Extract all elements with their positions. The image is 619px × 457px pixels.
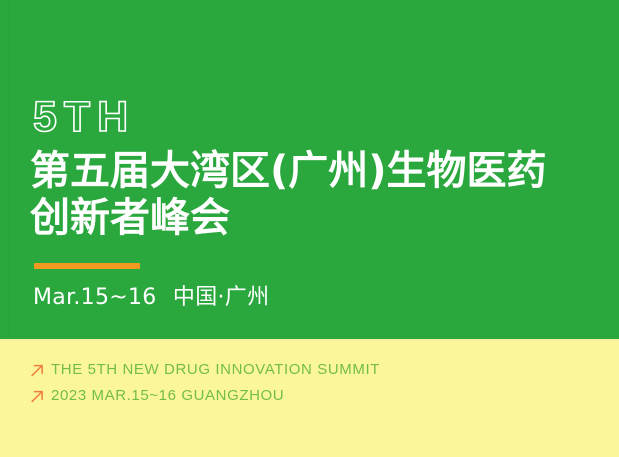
arrow-up-right-icon: [30, 389, 45, 404]
panel-left-seam: [9, 0, 10, 339]
footer-line-1: THE 5TH NEW DRUG INNOVATION SUMMIT: [51, 361, 380, 379]
poster-title: 第五届大湾区(广州)生物医药 创新者峰会: [30, 148, 610, 242]
footer-line-2: 2023 MAR.15~16 GUANGZHOU: [51, 387, 284, 405]
edition-mark: 5TH: [33, 96, 135, 139]
footer-row: THE 5TH NEW DRUG INNOVATION SUMMIT: [30, 357, 380, 383]
date-location-line: Mar.15~16 中国·广州: [33, 283, 269, 313]
accent-rule: [34, 263, 140, 269]
panel-divider: [0, 339, 619, 341]
arrow-up-right-icon: [30, 363, 45, 378]
title-line-2: 创新者峰会: [30, 195, 610, 242]
location-text: 中国·广州: [173, 285, 270, 310]
date-text: Mar.15~16: [33, 285, 157, 310]
title-line-1: 第五届大湾区(广州)生物医药: [30, 148, 610, 195]
footer-info: THE 5TH NEW DRUG INNOVATION SUMMIT 2023 …: [30, 357, 380, 409]
footer-row: 2023 MAR.15~16 GUANGZHOU: [30, 383, 380, 409]
event-poster: 5TH 第五届大湾区(广州)生物医药 创新者峰会 Mar.15~16 中国·广州…: [0, 0, 619, 457]
